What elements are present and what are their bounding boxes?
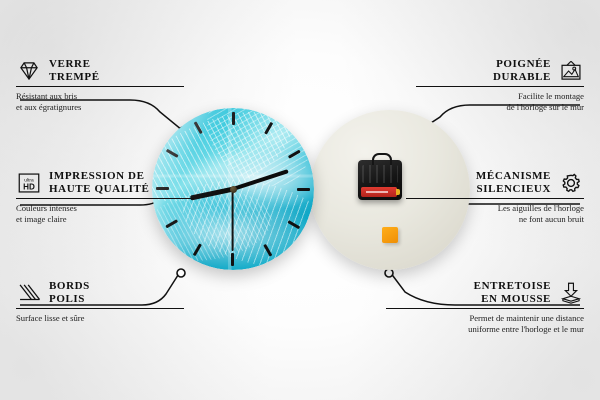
callout-rule xyxy=(16,308,184,309)
callout-title-line1: POIGNÉE xyxy=(493,58,551,71)
callout-title-line2: SILENCIEUX xyxy=(476,183,551,196)
clock-mechanism xyxy=(358,160,402,200)
callout-impression-haute-qualite: ultra HD IMPRESSION DE HAUTE QUALITÉ Cou… xyxy=(16,170,194,224)
callout-rule xyxy=(406,198,584,199)
callout-entretoise-en-mousse: ENTRETOISE EN MOUSSE Permet de maintenir… xyxy=(386,280,584,334)
callout-title-line1: MÉCANISME xyxy=(476,170,551,183)
callout-sub-line1: Résistant aux bris xyxy=(16,91,184,101)
callout-sub-line1: Permet de maintenir une distance xyxy=(386,313,584,323)
callout-sub-line1: Les aiguilles de l'horloge xyxy=(406,203,584,213)
callout-title-line2: POLIS xyxy=(49,293,90,306)
connector-dot-bords-polis xyxy=(177,269,185,277)
polished-edge-icon xyxy=(16,281,42,305)
callout-sub-line2: uniforme entre l'horloge et le mur xyxy=(386,324,584,334)
callout-rule xyxy=(16,198,194,199)
callout-sub-line1: Surface lisse et sûre xyxy=(16,313,184,323)
second-hand xyxy=(232,189,234,251)
callout-title-line2: TREMPÉ xyxy=(49,71,100,84)
hand-center-cap xyxy=(230,186,237,193)
callout-sub-line1: Facilite le montage xyxy=(416,91,584,101)
callout-sub-line2: et image claire xyxy=(16,214,194,224)
battery-band xyxy=(366,191,388,193)
callout-title-line1: ENTRETOISE xyxy=(474,280,551,293)
callout-title-line1: BORDS xyxy=(49,280,90,293)
foam-spacer-icon xyxy=(558,281,584,305)
connector-dot-entretoise xyxy=(385,269,393,277)
callout-title-line1: VERRE xyxy=(49,58,100,71)
battery xyxy=(361,187,397,197)
callout-sub-line2: et aux égratignures xyxy=(16,102,184,112)
callout-title-line2: EN MOUSSE xyxy=(474,293,551,306)
callout-mecanisme-silencieux: MÉCANISME SILENCIEUX Les aiguilles de l'… xyxy=(406,170,584,224)
picture-hanger-icon xyxy=(558,59,584,83)
mechanism-detail xyxy=(362,165,398,183)
foam-spacer-pad xyxy=(382,227,398,243)
svg-text:HD: HD xyxy=(23,182,35,191)
callout-rule xyxy=(386,308,584,309)
callout-title-line2: DURABLE xyxy=(493,71,551,84)
hour-marker xyxy=(233,188,314,190)
gear-icon xyxy=(558,171,584,195)
callout-poignee-durable: POIGNÉE DURABLE Facilite le montage de l… xyxy=(416,58,584,112)
callout-verre-trempe: VERRE TREMPÉ Résistant aux bris et aux é… xyxy=(16,58,184,112)
callout-title-line2: HAUTE QUALITÉ xyxy=(49,183,149,196)
callout-sub-line1: Couleurs intenses xyxy=(16,203,194,213)
callout-bords-polis: BORDS POLIS Surface lisse et sûre xyxy=(16,280,184,324)
callout-title-line1: IMPRESSION DE xyxy=(49,170,149,183)
hanger-loop-icon xyxy=(372,153,392,165)
hour-marker xyxy=(232,108,234,189)
callout-rule xyxy=(16,86,184,87)
callout-sub-line2: ne font aucun bruit xyxy=(406,214,584,224)
callout-rule xyxy=(416,86,584,87)
callout-sub-line2: de l'horloge sur le mur xyxy=(416,102,584,112)
diamond-icon xyxy=(16,59,42,83)
infographic-canvas: VERRE TREMPÉ Résistant aux bris et aux é… xyxy=(0,0,600,400)
ultra-hd-icon: ultra HD xyxy=(16,171,42,195)
